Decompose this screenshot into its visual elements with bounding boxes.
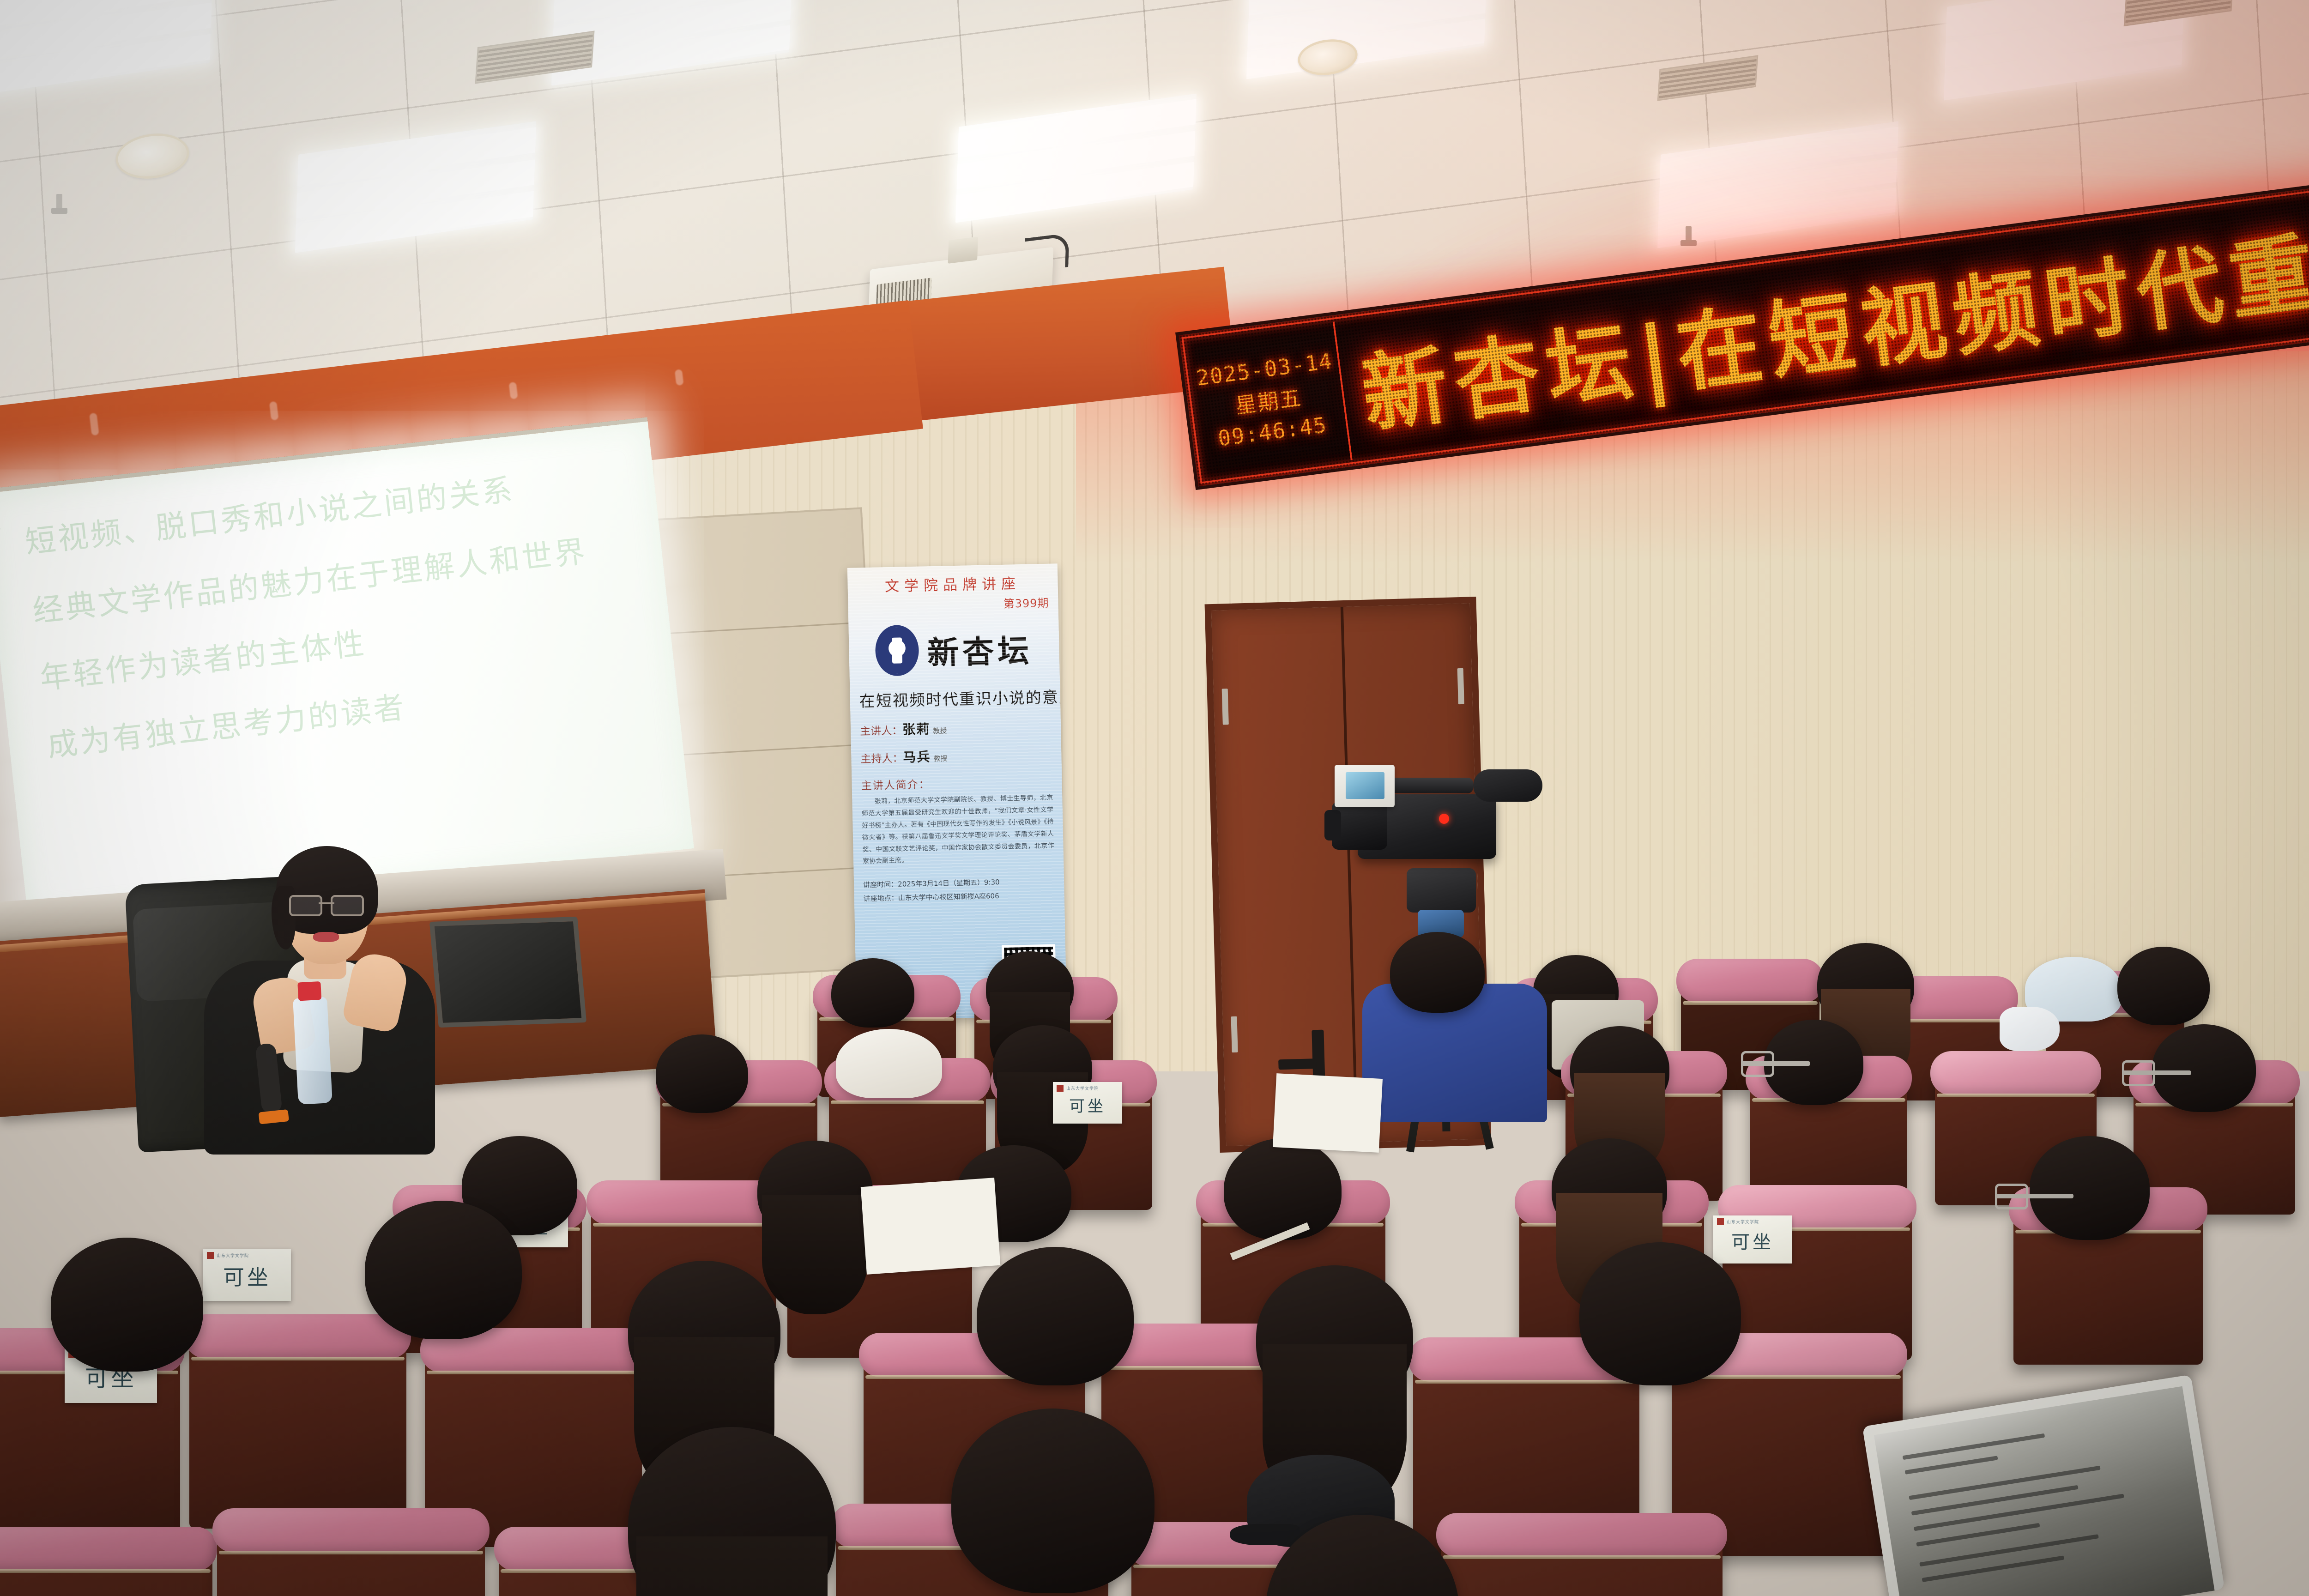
audience-head bbox=[628, 1261, 780, 1399]
audience-head bbox=[831, 958, 914, 1028]
poster-speaker-rank: 教授 bbox=[933, 726, 947, 735]
poster-bio-text: 张莉，北京师范大学文学院副院长、教授、博士生导师，北京师范大学第五届最受研究生欢… bbox=[861, 792, 1054, 868]
audience-head bbox=[977, 1247, 1134, 1385]
audience-head bbox=[365, 1201, 522, 1339]
laptop-screen[interactable] bbox=[1874, 1386, 2215, 1596]
notebook-paper bbox=[1273, 1073, 1383, 1153]
audience-head bbox=[2117, 947, 2210, 1025]
recording-indicator-icon bbox=[1439, 814, 1449, 824]
poster-speaker-row: 主讲人：张莉教授 bbox=[860, 717, 1052, 739]
audience-head bbox=[1570, 1026, 1669, 1112]
audience-cap-icon bbox=[836, 1029, 942, 1098]
seat-sign-org: 山东大学文学院 bbox=[1727, 1219, 1759, 1225]
seat-sign: 山东大学文学院 可坐 bbox=[1713, 1215, 1792, 1263]
seat-sign-label: 可坐 bbox=[1717, 1227, 1788, 1254]
audience-head bbox=[1256, 1265, 1413, 1409]
camera-lcd-screen bbox=[1335, 765, 1395, 807]
lecture-hall-photo: 短视频、脱口秀和小说之间的关系 经典文学作品的魅力在于理解人和世界 年轻作为读者… bbox=[0, 0, 2309, 1596]
seat-sign: 山东大学文学院 可坐 bbox=[1053, 1082, 1122, 1124]
face-mask-icon bbox=[2000, 1007, 2060, 1051]
camera-shotgun-mic-icon bbox=[1473, 769, 1542, 802]
seat[interactable] bbox=[217, 1524, 485, 1596]
seat-sign-label: 可坐 bbox=[207, 1261, 287, 1291]
audience-head bbox=[656, 1034, 748, 1113]
video-camera bbox=[1330, 767, 1524, 887]
seat[interactable] bbox=[0, 1542, 212, 1596]
audience-head bbox=[51, 1238, 203, 1372]
seat-sign-org: 山东大学文学院 bbox=[217, 1252, 249, 1258]
slide-line: 年轻作为读者的主体性 bbox=[37, 618, 368, 698]
audience-head bbox=[1817, 943, 1914, 1026]
audience-head bbox=[986, 951, 1074, 1025]
camera-lens-icon bbox=[1332, 802, 1387, 850]
audience-head bbox=[1390, 932, 1485, 1013]
led-date: 2025-03-14 bbox=[1195, 348, 1334, 391]
glasses-icon bbox=[1995, 1194, 2073, 1198]
audience-head bbox=[757, 1141, 873, 1240]
audience-head bbox=[951, 1409, 1154, 1593]
seat-sign-label: 可坐 bbox=[1057, 1094, 1118, 1116]
university-emblem-icon bbox=[875, 625, 919, 677]
poster-speaker-label: 主讲人： bbox=[860, 725, 903, 738]
poster-host-name: 马兵 bbox=[903, 749, 931, 765]
led-weekday: 星期五 bbox=[1233, 381, 1303, 420]
audience-head bbox=[2152, 1024, 2256, 1112]
poster-series-line: 文学院品牌讲座 bbox=[857, 571, 1049, 596]
audience-head bbox=[2030, 1136, 2150, 1240]
led-time: 09:46:45 bbox=[1216, 412, 1329, 451]
poster-bio-heading: 主讲人简介： bbox=[861, 773, 1053, 793]
notebook-paper bbox=[861, 1178, 1001, 1275]
seat[interactable] bbox=[1441, 1529, 1723, 1596]
glasses-icon bbox=[2122, 1070, 2191, 1075]
poster-brand: 新杏坛 bbox=[927, 625, 1033, 673]
seat-sign: 山东大学文学院 可坐 bbox=[203, 1249, 291, 1301]
seat[interactable] bbox=[189, 1330, 406, 1529]
poster-issue-number: 第399期 bbox=[857, 594, 1049, 614]
slide-line: 成为有独立思考力的读者 bbox=[45, 683, 408, 766]
poster-speaker-name: 张莉 bbox=[902, 721, 931, 737]
audience-head bbox=[1552, 1138, 1667, 1238]
audience-head bbox=[1224, 1138, 1342, 1240]
poster-title: 在短视频时代重识小说的意义 bbox=[859, 685, 1051, 712]
poster-host-rank: 教授 bbox=[933, 754, 947, 763]
poster-host-label: 主持人： bbox=[860, 752, 903, 765]
led-clock: 2025-03-14 星期五 09:46:45 bbox=[1186, 321, 1353, 479]
glasses-icon bbox=[1741, 1061, 1810, 1066]
seat-sign-org: 山东大学文学院 bbox=[1066, 1085, 1099, 1091]
audience-head bbox=[1579, 1242, 1741, 1385]
poster-host-row: 主持人：马兵教授 bbox=[860, 744, 1052, 767]
